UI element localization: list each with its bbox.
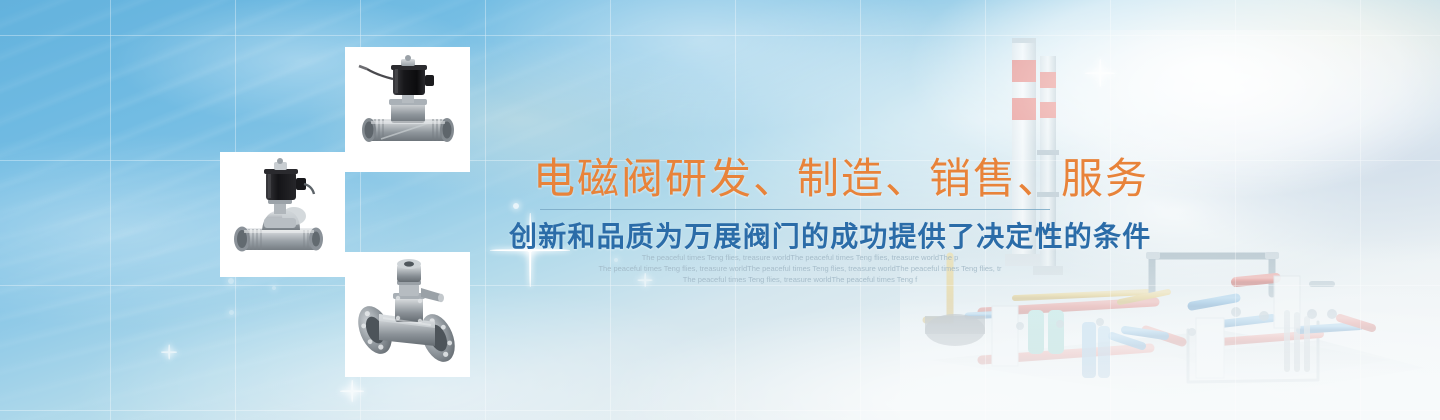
blurb-line: The peaceful times Teng flies, treasure … (562, 263, 1038, 274)
blurb-line: The peaceful times Teng flies, treasure … (650, 274, 950, 285)
banner-blurb: The peaceful times Teng flies, treasure … (560, 252, 1040, 285)
product-card-solenoid-valve-flanged[interactable] (345, 252, 470, 377)
title-divider (540, 209, 1050, 210)
product-card-solenoid-valve-threaded-steel[interactable] (220, 152, 345, 277)
page-subtitle: 创新和品质为万展阀门的成功提供了决定性的条件 (509, 219, 1151, 255)
solenoid-valve-flanged-image (345, 252, 470, 377)
solenoid-valve-threaded-black-coil-image (345, 47, 470, 172)
hero-banner: 电磁阀研发、制造、销售、服务 创新和品质为万展阀门的成功提供了决定性的条件 Th… (0, 0, 1440, 420)
product-card-solenoid-valve-threaded-black-coil[interactable] (345, 47, 470, 172)
blurb-line: The peaceful times Teng flies, treasure … (610, 252, 990, 263)
page-title: 电磁阀研发、制造、销售、服务 (533, 154, 1149, 204)
solenoid-valve-threaded-steel-image (220, 152, 345, 277)
grid-overlay (0, 0, 1440, 420)
